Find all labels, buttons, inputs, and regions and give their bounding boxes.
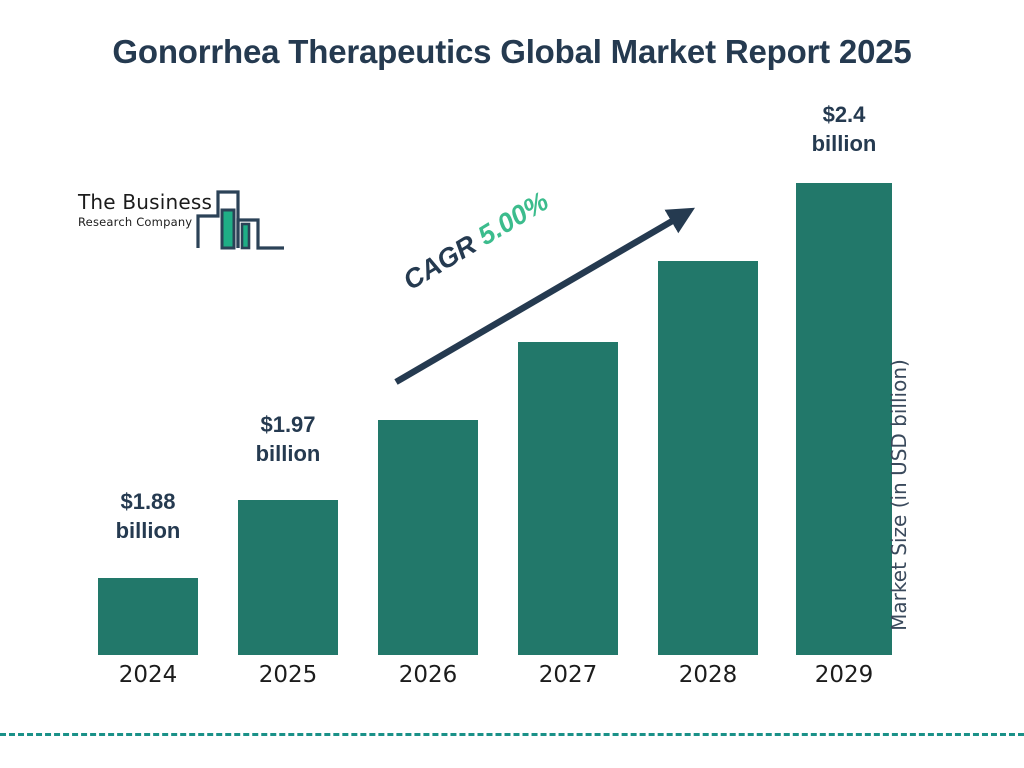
bar-2026[interactable] xyxy=(378,420,478,655)
x-tick-label-2026: 2026 xyxy=(378,662,478,688)
bar-value-label-2025: $1.97 billion xyxy=(224,410,352,469)
bar-2024[interactable] xyxy=(98,578,198,655)
x-tick-label-2024: 2024 xyxy=(98,662,198,688)
x-tick-label-2028: 2028 xyxy=(658,662,758,688)
bar-2025[interactable] xyxy=(238,500,338,655)
footer-divider xyxy=(0,733,1024,736)
bar-value-label-2029: $2.4 billion xyxy=(780,100,908,159)
growth-arrow-icon xyxy=(380,190,710,395)
bar-2029[interactable] xyxy=(796,183,892,655)
x-tick-label-2027: 2027 xyxy=(518,662,618,688)
chart-container: Gonorrhea Therapeutics Global Market Rep… xyxy=(0,0,1024,768)
bar-value-label-2024: $1.88 billion xyxy=(84,487,212,546)
x-tick-label-2025: 2025 xyxy=(238,662,338,688)
y-axis-title: Market Size (in USD billion) xyxy=(887,330,911,660)
x-tick-label-2029: 2029 xyxy=(794,662,894,688)
